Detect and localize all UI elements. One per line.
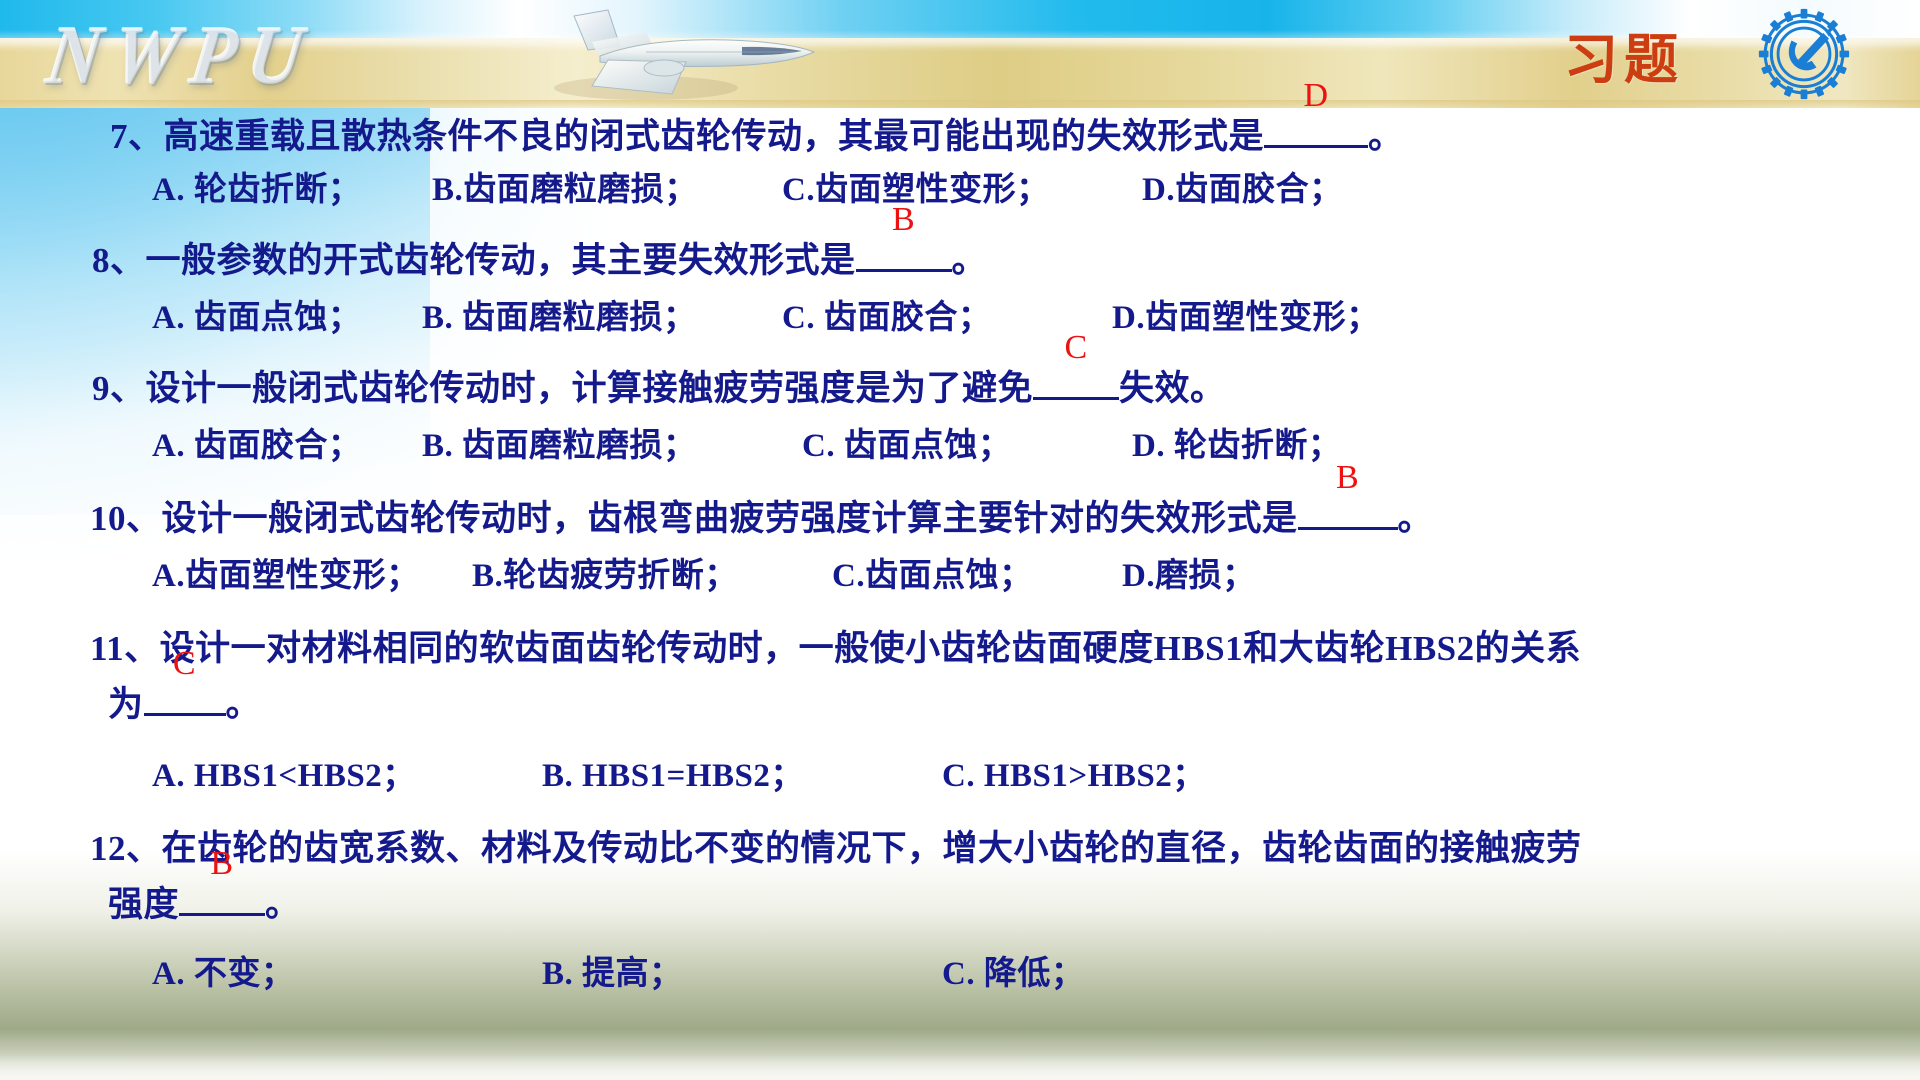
q12-suffix: 。 [265,885,301,924]
q11-answer-blank[interactable]: C [144,679,226,716]
q8-option-d[interactable]: D.齿面塑性变形； [1112,290,1380,338]
q9-answer-blank[interactable]: C [1033,363,1119,400]
q10-answer-blank[interactable]: B [1298,493,1398,530]
q9-option-a[interactable]: A. 齿面胶合； [152,418,422,466]
q12-number: 12、 [90,829,162,868]
question-11-line2: 为C。 [108,676,261,727]
q7-suffix: 。 [1368,117,1404,156]
q12-option-c[interactable]: C. 降低； [942,946,1084,994]
slide-canvas: NWPU [0,0,1920,1080]
q12-option-a[interactable]: A. 不变； [152,946,542,994]
q8-option-b[interactable]: B. 齿面磨粒磨损； [422,290,782,338]
q8-suffix: 。 [952,241,988,280]
q7-option-d[interactable]: D.齿面胶合； [1142,162,1343,210]
question-9-options: A. 齿面胶合；B. 齿面磨粒磨损；C. 齿面点蚀；D. 轮齿折断； [152,418,1341,466]
q8-option-a[interactable]: A. 齿面点蚀； [152,290,422,338]
question-12: 12、在齿轮的齿宽系数、材料及传动比不变的情况下，增大小齿轮的直径，齿轮齿面的接… [90,820,1582,871]
q11-line2-prefix: 为 [108,685,144,724]
q8-answer-blank[interactable]: B [856,235,952,272]
nwpu-gear-logo-icon [1756,6,1852,102]
question-12-line2: 强度B。 [108,876,301,927]
airplane-icon [496,2,826,106]
q7-number: 7、 [110,117,164,156]
question-7-options: A. 轮齿折断；B.齿面磨粒磨损；C.齿面塑性变形；D.齿面胶合； [152,162,1343,210]
question-9: 9、设计一般闭式齿轮传动时，计算接触疲劳强度是为了避免C失效。 [92,360,1226,411]
q10-number: 10、 [90,499,162,538]
q11-number: 11、 [90,629,160,668]
question-11-options: A. HBS1<HBS2；B. HBS1=HBS2；C. HBS1>HBS2； [152,748,1206,796]
q9-option-b[interactable]: B. 齿面磨粒磨损； [422,418,802,466]
question-10-options: A.齿面塑性变形；B.轮齿疲劳折断；C.齿面点蚀；D.磨损； [152,548,1256,596]
q8-answer: B [892,201,915,239]
q11-answer: C [173,645,196,683]
q11-option-b[interactable]: B. HBS1=HBS2； [542,748,942,796]
q11-option-a[interactable]: A. HBS1<HBS2； [152,748,542,796]
question-12-options: A. 不变；B. 提高；C. 降低； [152,946,1084,994]
q10-suffix: 。 [1398,499,1434,538]
q8-option-c[interactable]: C. 齿面胶合； [782,290,1112,338]
q12-line2-prefix: 强度 [108,885,179,924]
q10-text: 设计一般闭式齿轮传动时，齿根弯曲疲劳强度计算主要针对的失效形式是 [162,499,1298,538]
q7-answer: D [1304,77,1329,115]
q12-answer: B [210,845,233,883]
q10-answer: B [1336,459,1359,497]
q9-text: 设计一般闭式齿轮传动时，计算接触疲劳强度是为了避免 [146,369,1034,408]
page-title: 习题 [1564,30,1684,90]
q12-text: 在齿轮的齿宽系数、材料及传动比不变的情况下，增大小齿轮的直径，齿轮齿面的接触疲劳 [162,829,1582,868]
q10-option-a[interactable]: A.齿面塑性变形； [152,548,472,596]
question-10: 10、设计一般闭式齿轮传动时，齿根弯曲疲劳强度计算主要针对的失效形式是B。 [90,490,1433,541]
q7-option-c[interactable]: C.齿面塑性变形； [782,162,1142,210]
q7-option-b[interactable]: B.齿面磨粒磨损； [432,162,782,210]
q9-option-d[interactable]: D. 轮齿折断； [1132,418,1341,466]
question-8: 8、一般参数的开式齿轮传动，其主要失效形式是B。 [92,232,987,283]
q7-answer-blank[interactable]: D [1264,111,1368,148]
question-8-options: A. 齿面点蚀；B. 齿面磨粒磨损；C. 齿面胶合；D.齿面塑性变形； [152,290,1380,338]
q9-number: 9、 [92,369,146,408]
q10-option-d[interactable]: D.磨损； [1122,548,1256,596]
q9-suffix: 失效。 [1119,369,1226,408]
q9-option-c[interactable]: C. 齿面点蚀； [802,418,1132,466]
q11-suffix: 。 [226,685,262,724]
q10-option-b[interactable]: B.轮齿疲劳折断； [472,548,832,596]
q11-text: 设计一对材料相同的软齿面齿轮传动时，一般使小齿轮齿面硬度HBS1和大齿轮HBS2… [160,629,1582,668]
q8-text: 一般参数的开式齿轮传动，其主要失效形式是 [146,241,856,280]
header-banner: NWPU [0,0,1920,108]
question-11: 11、设计一对材料相同的软齿面齿轮传动时，一般使小齿轮齿面硬度HBS1和大齿轮H… [90,620,1581,671]
q12-answer-blank[interactable]: B [179,879,265,916]
nwpu-watermark-text: NWPU [41,9,320,104]
question-7: 7、高速重载且散热条件不良的闭式齿轮传动，其最可能出现的失效形式是D。 [110,108,1404,159]
q9-answer: C [1064,329,1087,367]
q7-text: 高速重载且散热条件不良的闭式齿轮传动，其最可能出现的失效形式是 [164,117,1265,156]
q12-option-b[interactable]: B. 提高； [542,946,942,994]
q7-option-a[interactable]: A. 轮齿折断； [152,162,432,210]
q10-option-c[interactable]: C.齿面点蚀； [832,548,1122,596]
q8-number: 8、 [92,241,146,280]
exercise-content: 7、高速重载且散热条件不良的闭式齿轮传动，其最可能出现的失效形式是D。 A. 轮… [0,104,1920,1080]
q11-option-c[interactable]: C. HBS1>HBS2； [942,748,1206,796]
